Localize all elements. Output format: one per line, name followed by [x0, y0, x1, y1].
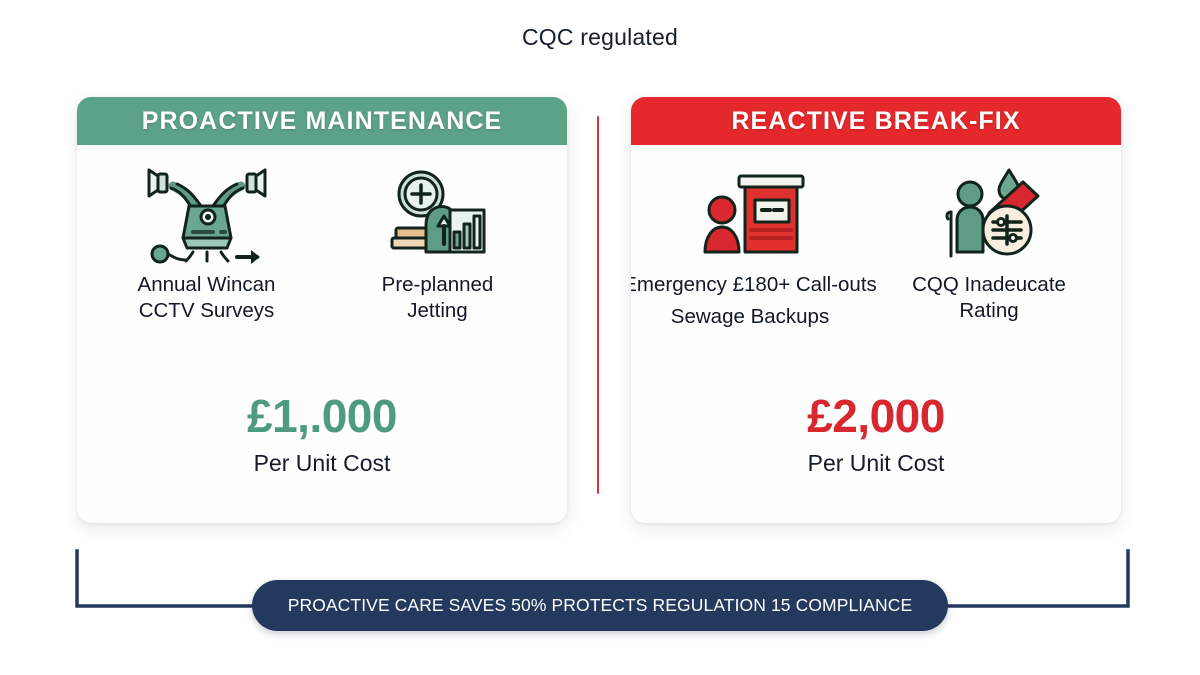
cctv-crawler-robot-icon [147, 161, 267, 266]
card-header-proactive: PROACTIVE MAINTENANCE [77, 97, 567, 145]
emergency-callout-person-icon [703, 161, 813, 266]
item-emergency-callouts: Emergency £180+ Call-outs Sewage Backups [658, 161, 858, 330]
caption-emergency-callouts: Emergency £180+ Call-outs [631, 272, 877, 298]
item-pre-planned-jetting: Pre-planned Jetting [333, 161, 543, 324]
reactive-items: Emergency £180+ Call-outs Sewage Backups [631, 161, 1121, 330]
item-cqq-inadequate-rating: CQQ Inadeucate Rating [884, 161, 1094, 324]
summary-banner-text: PROACTIVE CARE SAVES 50% PROTECTS REGULA… [288, 595, 913, 616]
price-block-proactive: £1,.000 Per Unit Cost [77, 393, 567, 477]
caption-pre-planned-jetting: Pre-planned Jetting [382, 272, 494, 324]
card-header-reactive: REACTIVE BREAK-FIX [631, 97, 1121, 145]
inadequate-rating-badge-icon [937, 161, 1042, 266]
card-reactive-break-fix: REACTIVE BREAK-FIX [631, 97, 1121, 523]
card-proactive-maintenance: PROACTIVE MAINTENANCE [77, 97, 567, 523]
caption-sewage-backups: Sewage Backups [671, 304, 829, 330]
price-block-reactive: £2,000 Per Unit Cost [631, 393, 1121, 477]
page-title: CQC regulated [0, 24, 1200, 51]
planned-jetting-chart-icon [388, 161, 488, 266]
summary-banner: PROACTIVE CARE SAVES 50% PROTECTS REGULA… [252, 580, 948, 631]
price-proactive: £1,.000 [77, 393, 567, 439]
proactive-items: Annual Wincan CCTV Surveys [77, 161, 567, 324]
caption-annual-wincan-cctv-surveys: Annual Wincan CCTV Surveys [138, 272, 276, 324]
caption-cqq-inadequate-rating: CQQ Inadeucate Rating [912, 272, 1066, 324]
card-body-proactive: Annual Wincan CCTV Surveys [77, 145, 567, 523]
price-sub-reactive: Per Unit Cost [631, 450, 1121, 477]
infographic-canvas: CQC regulated PROACTIVE MAINTENANCE [0, 0, 1200, 675]
price-sub-proactive: Per Unit Cost [77, 450, 567, 477]
price-reactive: £2,000 [631, 393, 1121, 439]
card-body-reactive: Emergency £180+ Call-outs Sewage Backups [631, 145, 1121, 523]
vertical-divider [597, 116, 599, 494]
item-annual-wincan-cctv-surveys: Annual Wincan CCTV Surveys [102, 161, 312, 324]
